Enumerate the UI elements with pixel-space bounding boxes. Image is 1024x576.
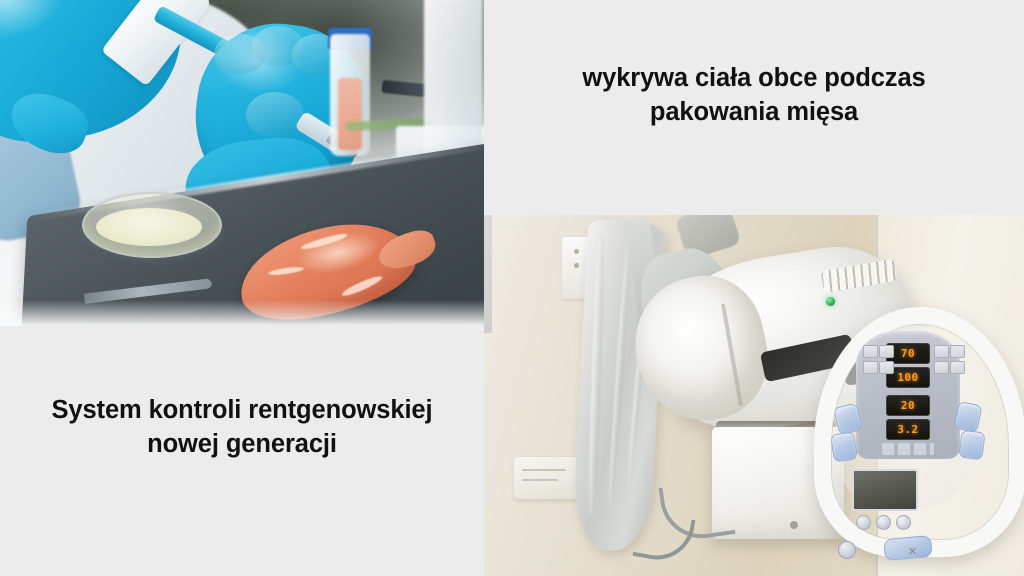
lab-bench-foreground xyxy=(0,300,484,326)
photo-xray-machine: 70 100 20 3.2 ✕ xyxy=(484,215,1024,576)
console-button xyxy=(950,345,965,358)
console-button xyxy=(934,361,949,374)
wall-plate-line xyxy=(522,479,558,481)
slide-canvas: wykrywa ciała obce podczas pakowania mię… xyxy=(0,0,1024,576)
power-cable xyxy=(632,510,695,565)
reagent-bottle xyxy=(424,0,482,164)
specimen-vial-contents xyxy=(338,78,362,150)
console-button xyxy=(863,345,878,358)
handle-x-mark-icon: ✕ xyxy=(908,545,917,558)
led-readout-3: 20 xyxy=(886,395,930,416)
bracket-bolt xyxy=(574,263,579,268)
lab-photo-canvas xyxy=(0,0,484,326)
round-console-button xyxy=(856,515,871,530)
console-button xyxy=(863,361,878,374)
wall-edge xyxy=(484,215,492,333)
caption-panel-top-right: wykrywa ciała obce podczas pakowania mię… xyxy=(484,0,1024,215)
caption-panel-bottom-left: System kontroli rentgenowskiej nowej gen… xyxy=(0,326,484,576)
caption-bottom-left-text: System kontroli rentgenowskiej nowej gen… xyxy=(0,394,484,461)
led-readout-4: 3.2 xyxy=(886,419,930,440)
round-console-button xyxy=(876,515,891,530)
xray-photo-canvas: 70 100 20 3.2 ✕ xyxy=(484,215,1024,576)
status-led-icon xyxy=(826,297,835,306)
bracket-bolt xyxy=(574,249,579,254)
console-button xyxy=(879,361,894,374)
lcd-display-panel xyxy=(852,469,918,511)
collimator-bolt xyxy=(790,521,798,529)
round-console-button xyxy=(896,515,911,530)
blue-control-pad xyxy=(830,431,858,462)
console-label-strip xyxy=(882,443,934,455)
console-button xyxy=(879,345,894,358)
wall-plate xyxy=(514,457,582,499)
console-button xyxy=(950,361,965,374)
caption-top-right-text: wykrywa ciała obce podczas pakowania mię… xyxy=(484,62,1024,129)
glove-knuckle xyxy=(246,92,304,138)
blue-control-pad xyxy=(958,430,985,461)
wall-plate-line xyxy=(522,469,566,471)
petri-dish-medium xyxy=(96,208,202,246)
power-button xyxy=(838,541,856,559)
lab-pen xyxy=(381,80,426,98)
console-button xyxy=(934,345,949,358)
photo-lab-inspection xyxy=(0,0,484,326)
